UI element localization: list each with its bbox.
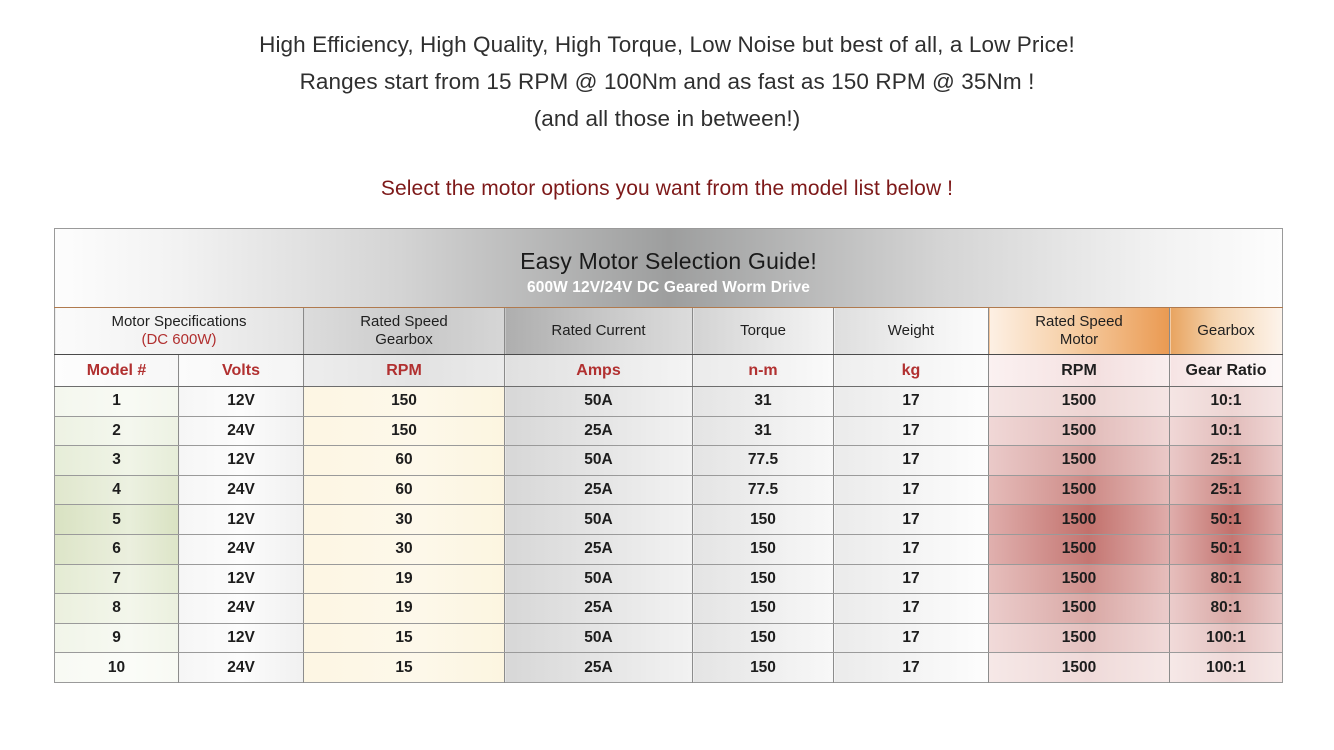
group-header-rated-speed-motor: Rated Speed Motor: [989, 308, 1170, 355]
cell-motor-rpm: 1500: [989, 653, 1170, 683]
cell-motor-rpm: 1500: [989, 594, 1170, 624]
cell-weight-kg: 17: [834, 594, 989, 624]
intro-line-2: Ranges start from 15 RPM @ 100Nm and as …: [0, 63, 1334, 100]
group-header-motor-specifications-sublabel: (DC 600W): [55, 331, 303, 349]
table-row[interactable]: 1024V1525A150171500100:1: [55, 653, 1283, 683]
cell-gear-ratio: 100:1: [1170, 653, 1283, 683]
cell-motor-rpm: 1500: [989, 475, 1170, 505]
cell-gearbox-rpm: 15: [304, 653, 505, 683]
cell-torque-nm: 150: [693, 594, 834, 624]
cell-model: 6: [55, 534, 179, 564]
unit-header-model-label: Model #: [87, 362, 147, 379]
group-header-row: Motor Specifications (DC 600W) Rated Spe…: [55, 308, 1283, 355]
cell-volts: 12V: [179, 446, 304, 476]
cell-gear-ratio: 10:1: [1170, 416, 1283, 446]
motor-selection-table-wrapper: Easy Motor Selection Guide! 600W 12V/24V…: [54, 228, 1282, 683]
group-header-torque-label: Torque: [740, 322, 786, 339]
cell-gearbox-rpm: 60: [304, 446, 505, 476]
cell-model: 2: [55, 416, 179, 446]
cell-amps: 25A: [505, 594, 693, 624]
banner-row: Easy Motor Selection Guide! 600W 12V/24V…: [55, 229, 1283, 308]
cell-model: 3: [55, 446, 179, 476]
motor-selection-table: Easy Motor Selection Guide! 600W 12V/24V…: [54, 228, 1283, 683]
unit-header-weight-kg: kg: [834, 355, 989, 387]
cell-gearbox-rpm: 19: [304, 564, 505, 594]
cell-motor-rpm: 1500: [989, 564, 1170, 594]
cell-gear-ratio: 50:1: [1170, 505, 1283, 535]
group-header-weight-label: Weight: [888, 322, 934, 339]
cell-amps: 50A: [505, 446, 693, 476]
cell-gear-ratio: 25:1: [1170, 446, 1283, 476]
cell-amps: 25A: [505, 653, 693, 683]
group-header-rated-speed-gearbox-line2: Gearbox: [375, 331, 433, 348]
table-row[interactable]: 912V1550A150171500100:1: [55, 623, 1283, 653]
table-row[interactable]: 512V3050A15017150050:1: [55, 505, 1283, 535]
cell-amps: 50A: [505, 623, 693, 653]
group-header-gearbox: Gearbox: [1170, 308, 1283, 355]
cell-volts: 12V: [179, 387, 304, 417]
cell-amps: 50A: [505, 387, 693, 417]
table-row[interactable]: 424V6025A77.517150025:1: [55, 475, 1283, 505]
banner-title: Easy Motor Selection Guide!: [55, 239, 1282, 275]
cell-torque-nm: 150: [693, 505, 834, 535]
cell-amps: 50A: [505, 564, 693, 594]
cell-volts: 12V: [179, 564, 304, 594]
cell-volts: 12V: [179, 505, 304, 535]
group-header-motor-specifications: Motor Specifications (DC 600W): [55, 308, 304, 355]
cell-gearbox-rpm: 30: [304, 534, 505, 564]
intro-line-3: (and all those in between!): [0, 100, 1334, 137]
cell-weight-kg: 17: [834, 653, 989, 683]
unit-header-amps-label: Amps: [576, 362, 620, 379]
cell-amps: 25A: [505, 416, 693, 446]
unit-header-gearbox-rpm: RPM: [304, 355, 505, 387]
banner-cell: Easy Motor Selection Guide! 600W 12V/24V…: [55, 229, 1283, 308]
table-body: 112V15050A3117150010:1224V15025A31171500…: [55, 387, 1283, 683]
group-header-weight: Weight: [834, 308, 989, 355]
cell-volts: 24V: [179, 594, 304, 624]
call-to-action-text: Select the motor options you want from t…: [0, 177, 1334, 201]
group-header-torque: Torque: [693, 308, 834, 355]
unit-header-torque-nm: n-m: [693, 355, 834, 387]
cell-volts: 24V: [179, 416, 304, 446]
cell-volts: 12V: [179, 623, 304, 653]
table-row[interactable]: 712V1950A15017150080:1: [55, 564, 1283, 594]
cell-gearbox-rpm: 19: [304, 594, 505, 624]
group-header-rated-speed-motor-line1: Rated Speed: [1035, 313, 1123, 330]
unit-header-volts-label: Volts: [222, 362, 260, 379]
cell-gear-ratio: 50:1: [1170, 534, 1283, 564]
banner-subtitle: 600W 12V/24V DC Geared Worm Drive: [55, 275, 1282, 297]
unit-header-motor-rpm-label: RPM: [1061, 362, 1097, 379]
cell-amps: 25A: [505, 534, 693, 564]
cell-weight-kg: 17: [834, 475, 989, 505]
table-row[interactable]: 824V1925A15017150080:1: [55, 594, 1283, 624]
table-row[interactable]: 624V3025A15017150050:1: [55, 534, 1283, 564]
cell-torque-nm: 150: [693, 653, 834, 683]
cell-motor-rpm: 1500: [989, 623, 1170, 653]
cell-gear-ratio: 80:1: [1170, 594, 1283, 624]
group-header-rated-current-label: Rated Current: [551, 322, 645, 339]
unit-header-gearbox-rpm-label: RPM: [386, 362, 422, 379]
cell-torque-nm: 31: [693, 387, 834, 417]
cell-model: 10: [55, 653, 179, 683]
cell-amps: 25A: [505, 475, 693, 505]
cell-model: 5: [55, 505, 179, 535]
cell-motor-rpm: 1500: [989, 416, 1170, 446]
cell-weight-kg: 17: [834, 623, 989, 653]
cell-gear-ratio: 25:1: [1170, 475, 1283, 505]
cell-weight-kg: 17: [834, 564, 989, 594]
unit-header-gear-ratio-label: Gear Ratio: [1186, 362, 1267, 379]
cell-gear-ratio: 100:1: [1170, 623, 1283, 653]
cell-weight-kg: 17: [834, 534, 989, 564]
group-header-rated-speed-motor-line2: Motor: [1060, 331, 1098, 348]
cell-volts: 24V: [179, 653, 304, 683]
cell-model: 1: [55, 387, 179, 417]
cell-weight-kg: 17: [834, 416, 989, 446]
cell-model: 4: [55, 475, 179, 505]
cell-torque-nm: 150: [693, 623, 834, 653]
group-header-gearbox-label: Gearbox: [1197, 322, 1255, 339]
cell-amps: 50A: [505, 505, 693, 535]
cell-weight-kg: 17: [834, 387, 989, 417]
unit-header-amps: Amps: [505, 355, 693, 387]
cell-motor-rpm: 1500: [989, 505, 1170, 535]
cell-gearbox-rpm: 150: [304, 387, 505, 417]
cell-gear-ratio: 10:1: [1170, 387, 1283, 417]
cell-torque-nm: 77.5: [693, 475, 834, 505]
cell-model: 8: [55, 594, 179, 624]
unit-header-weight-kg-label: kg: [902, 362, 921, 379]
unit-header-volts: Volts: [179, 355, 304, 387]
cell-gearbox-rpm: 15: [304, 623, 505, 653]
intro-block: High Efficiency, High Quality, High Torq…: [0, 0, 1334, 137]
cell-torque-nm: 31: [693, 416, 834, 446]
cell-volts: 24V: [179, 534, 304, 564]
cell-gear-ratio: 80:1: [1170, 564, 1283, 594]
group-header-rated-speed-gearbox: Rated Speed Gearbox: [304, 308, 505, 355]
cell-model: 7: [55, 564, 179, 594]
cell-gearbox-rpm: 30: [304, 505, 505, 535]
unit-header-model: Model #: [55, 355, 179, 387]
unit-header-row: Model # Volts RPM Amps n-m kg RP: [55, 355, 1283, 387]
group-header-rated-speed-gearbox-line1: Rated Speed: [360, 313, 448, 330]
cell-weight-kg: 17: [834, 505, 989, 535]
unit-header-torque-nm-label: n-m: [748, 362, 777, 379]
cell-weight-kg: 17: [834, 446, 989, 476]
unit-header-motor-rpm: RPM: [989, 355, 1170, 387]
cell-motor-rpm: 1500: [989, 387, 1170, 417]
cell-torque-nm: 150: [693, 534, 834, 564]
cell-model: 9: [55, 623, 179, 653]
cell-torque-nm: 77.5: [693, 446, 834, 476]
cell-torque-nm: 150: [693, 564, 834, 594]
table-row[interactable]: 112V15050A3117150010:1: [55, 387, 1283, 417]
table-row[interactable]: 224V15025A3117150010:1: [55, 416, 1283, 446]
cell-gearbox-rpm: 150: [304, 416, 505, 446]
intro-line-1: High Efficiency, High Quality, High Torq…: [0, 26, 1334, 63]
group-header-rated-current: Rated Current: [505, 308, 693, 355]
cell-volts: 24V: [179, 475, 304, 505]
unit-header-gear-ratio: Gear Ratio: [1170, 355, 1283, 387]
group-header-motor-specifications-label: Motor Specifications: [111, 313, 246, 330]
cell-motor-rpm: 1500: [989, 446, 1170, 476]
cell-gearbox-rpm: 60: [304, 475, 505, 505]
table-head: Easy Motor Selection Guide! 600W 12V/24V…: [55, 229, 1283, 387]
cell-motor-rpm: 1500: [989, 534, 1170, 564]
table-row[interactable]: 312V6050A77.517150025:1: [55, 446, 1283, 476]
